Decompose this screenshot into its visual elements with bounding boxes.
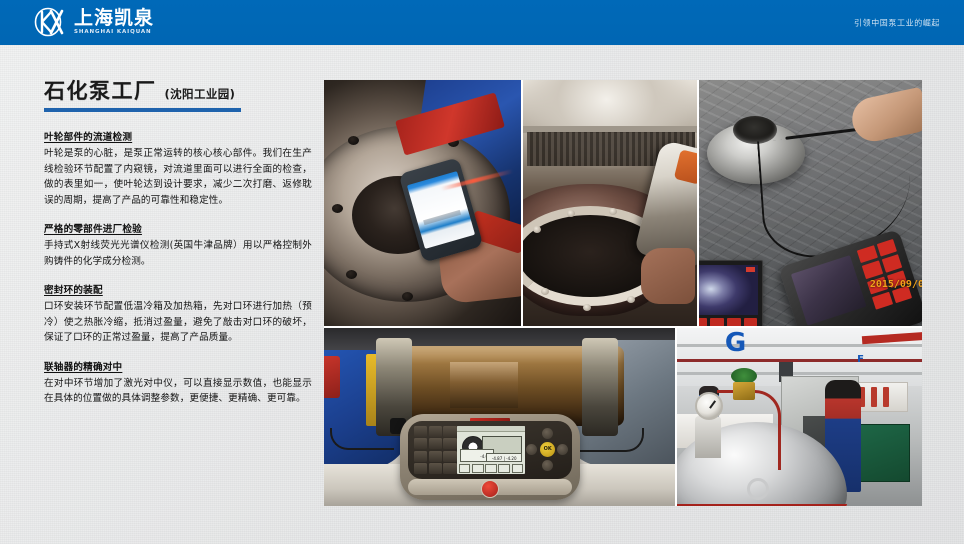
key-8[interactable] bbox=[429, 426, 442, 437]
brass-valve bbox=[733, 382, 755, 400]
photo-laser-alignment-image: -4.05 -4.87 | -4.20 bbox=[324, 328, 675, 506]
motor-red-marker bbox=[324, 356, 340, 398]
toolbar-icon-3 bbox=[485, 464, 497, 473]
sensor-cable-left bbox=[330, 428, 394, 450]
operator-hand bbox=[641, 248, 695, 304]
inset-monitor-keypad bbox=[699, 318, 758, 326]
borescope-display bbox=[791, 255, 867, 326]
section-seal-ring-assembly: 密封环的装配 口环安装环节配置低温冷箱及加热箱，先对口环进行加热（预冷）使之热胀… bbox=[44, 282, 312, 346]
pressure-gauge bbox=[695, 392, 723, 420]
laser-alignment-tool: -4.05 -4.87 | -4.20 bbox=[400, 414, 580, 500]
red-hose-line bbox=[717, 390, 781, 470]
photo-impeller-scanner-image bbox=[324, 80, 521, 326]
casing-stud bbox=[627, 296, 635, 303]
header-tagline: 引领中国泵工业的崛起 bbox=[854, 17, 940, 28]
page-title: 石化泵工厂 bbox=[44, 80, 157, 103]
readout-pair: -4.87 | -4.20 bbox=[486, 453, 522, 462]
page-subtitle: (沈阳工业园) bbox=[165, 86, 236, 102]
photo-timestamp-overlay: 2015/09/0 bbox=[870, 279, 922, 290]
nav-left-button[interactable] bbox=[526, 444, 537, 455]
casing-stud bbox=[609, 208, 617, 215]
borescope-keypad bbox=[857, 239, 912, 310]
coupling-spacer bbox=[450, 362, 518, 408]
logo-english-name: SHANGHAI KAIQUAN bbox=[74, 30, 154, 35]
ok-button[interactable]: OK bbox=[540, 442, 555, 457]
nav-up-button[interactable] bbox=[542, 428, 553, 439]
screen-icon-toolbar bbox=[459, 464, 524, 473]
tool-navigation-pad[interactable]: OK bbox=[525, 426, 566, 474]
photo-casing-xrf[interactable] bbox=[523, 80, 697, 326]
nav-down-button[interactable] bbox=[542, 460, 553, 471]
slide-root: 上海凯泉 SHANGHAI KAIQUAN 引领中国泵工业的崛起 石化泵工厂 (… bbox=[0, 0, 964, 544]
section-body: 叶轮是泵的心脏，是泵正常运转的核心核心部件。我们在生产线检验环节配置了内窥镜，对… bbox=[44, 146, 312, 208]
section-heading: 联轴器的精确对中 bbox=[44, 359, 312, 373]
vessel-lift-ring bbox=[747, 478, 769, 500]
brand-logo[interactable]: 上海凯泉 SHANGHAI KAIQUAN bbox=[34, 7, 154, 37]
workshop-wall-mark: F bbox=[857, 354, 864, 365]
section-body: 口环安装环节配置低温冷箱及加热箱，先对口环进行加热（预冷）使之热胀冷缩，抵消过盈… bbox=[44, 299, 312, 346]
vessel-neck bbox=[695, 416, 721, 458]
section-heading: 密封环的装配 bbox=[44, 282, 312, 296]
title-underline-rule bbox=[44, 108, 241, 112]
workshop-wall-sign: G bbox=[725, 330, 746, 356]
vessel-red-band bbox=[677, 504, 847, 506]
tool-numeric-keypad[interactable] bbox=[414, 426, 457, 474]
key-6[interactable] bbox=[443, 438, 456, 449]
section-heading: 叶轮部件的流道检测 bbox=[44, 129, 312, 143]
ceiling-beam bbox=[677, 344, 922, 347]
key-7[interactable] bbox=[414, 426, 427, 437]
header-bar: 上海凯泉 SHANGHAI KAIQUAN 引领中国泵工业的崛起 bbox=[0, 0, 964, 45]
key-2[interactable] bbox=[429, 451, 442, 462]
section-impeller-flow-inspection: 叶轮部件的流道检测 叶轮是泵的心脏，是泵正常运转的核心核心部件。我们在生产线检验… bbox=[44, 129, 312, 208]
photo-casing-xrf-image bbox=[523, 80, 697, 326]
page-title-row: 石化泵工厂 (沈阳工业园) bbox=[44, 80, 312, 103]
photo-impeller-scanner[interactable] bbox=[324, 80, 521, 326]
photo-borescope[interactable]: 2015/09/0 bbox=[699, 80, 923, 326]
section-body: 手持式X射线荧光光谱仪检测(英国牛津品牌）用以严格控制外购铸件的化学成分检测。 bbox=[44, 238, 312, 269]
gallery-row-top: 2015/09/0 bbox=[324, 80, 922, 326]
nav-right-button[interactable] bbox=[557, 444, 568, 455]
borescope-inset-monitor bbox=[699, 260, 763, 326]
ceiling-beam bbox=[677, 372, 922, 375]
content-text-column: 石化泵工厂 (沈阳工业园) 叶轮部件的流道检测 叶轮是泵的心脏，是泵正常运转的核… bbox=[44, 80, 312, 420]
key-3[interactable] bbox=[443, 451, 456, 462]
key-decimal[interactable] bbox=[429, 463, 442, 474]
photo-workshop-vessel[interactable]: G F bbox=[677, 328, 922, 506]
casing-stud bbox=[567, 210, 575, 217]
kaiquan-kx-monogram-icon bbox=[34, 7, 67, 37]
power-button[interactable] bbox=[481, 480, 499, 498]
toolbar-icon-1 bbox=[459, 464, 471, 473]
key-0[interactable] bbox=[414, 463, 427, 474]
photo-gallery-grid: 2015/09/0 bbox=[324, 80, 922, 504]
toolbar-icon-save bbox=[512, 464, 524, 473]
photo-laser-alignment[interactable]: -4.05 -4.87 | -4.20 bbox=[324, 328, 675, 506]
photo-borescope-image: 2015/09/0 bbox=[699, 80, 923, 326]
key-backspace[interactable] bbox=[443, 463, 456, 474]
flange-bolt-hole bbox=[348, 136, 359, 145]
key-9[interactable] bbox=[443, 426, 456, 437]
coupling-flange-right bbox=[582, 338, 618, 436]
screen-status-bar bbox=[457, 426, 526, 432]
flange-bolt-hole bbox=[346, 270, 357, 279]
flange-bolt-hole bbox=[402, 292, 413, 301]
borescope-live-video-feed bbox=[699, 265, 758, 315]
sections-list: 叶轮部件的流道检测 叶轮是泵的心脏，是泵正常运转的核心核心部件。我们在生产线检验… bbox=[44, 129, 312, 407]
tool-front-panel: -4.05 -4.87 | -4.20 bbox=[408, 421, 572, 479]
toolbar-icon-4 bbox=[498, 464, 510, 473]
casing-stud bbox=[583, 304, 591, 311]
section-incoming-parts-inspection: 严格的零部件进厂检验 手持式X射线荧光光谱仪检测(英国牛津品牌）用以严格控制外购… bbox=[44, 221, 312, 269]
ceiling-pipe-red bbox=[677, 359, 922, 362]
toolbar-icon-2 bbox=[472, 464, 484, 473]
logo-chinese-name: 上海凯泉 bbox=[74, 9, 154, 28]
key-5[interactable] bbox=[429, 438, 442, 449]
casing-stud bbox=[541, 288, 549, 295]
section-heading: 严格的零部件进厂检验 bbox=[44, 221, 312, 235]
casing-stud bbox=[533, 226, 541, 233]
flange-bolt-hole bbox=[332, 204, 343, 213]
photo-workshop-vessel-image: G F bbox=[677, 328, 922, 506]
section-body: 在对中环节增加了激光对中仪，可以直接显示数值，也能显示在具体的位置做的具体调整参… bbox=[44, 376, 312, 407]
section-coupling-alignment: 联轴器的精确对中 在对中环节增加了激光对中仪，可以直接显示数值，也能显示在具体的… bbox=[44, 359, 312, 407]
tool-lcd-screen: -4.05 -4.87 | -4.20 bbox=[457, 426, 526, 474]
key-4[interactable] bbox=[414, 438, 427, 449]
gallery-row-bottom: -4.05 -4.87 | -4.20 bbox=[324, 328, 922, 506]
key-1[interactable] bbox=[414, 451, 427, 462]
